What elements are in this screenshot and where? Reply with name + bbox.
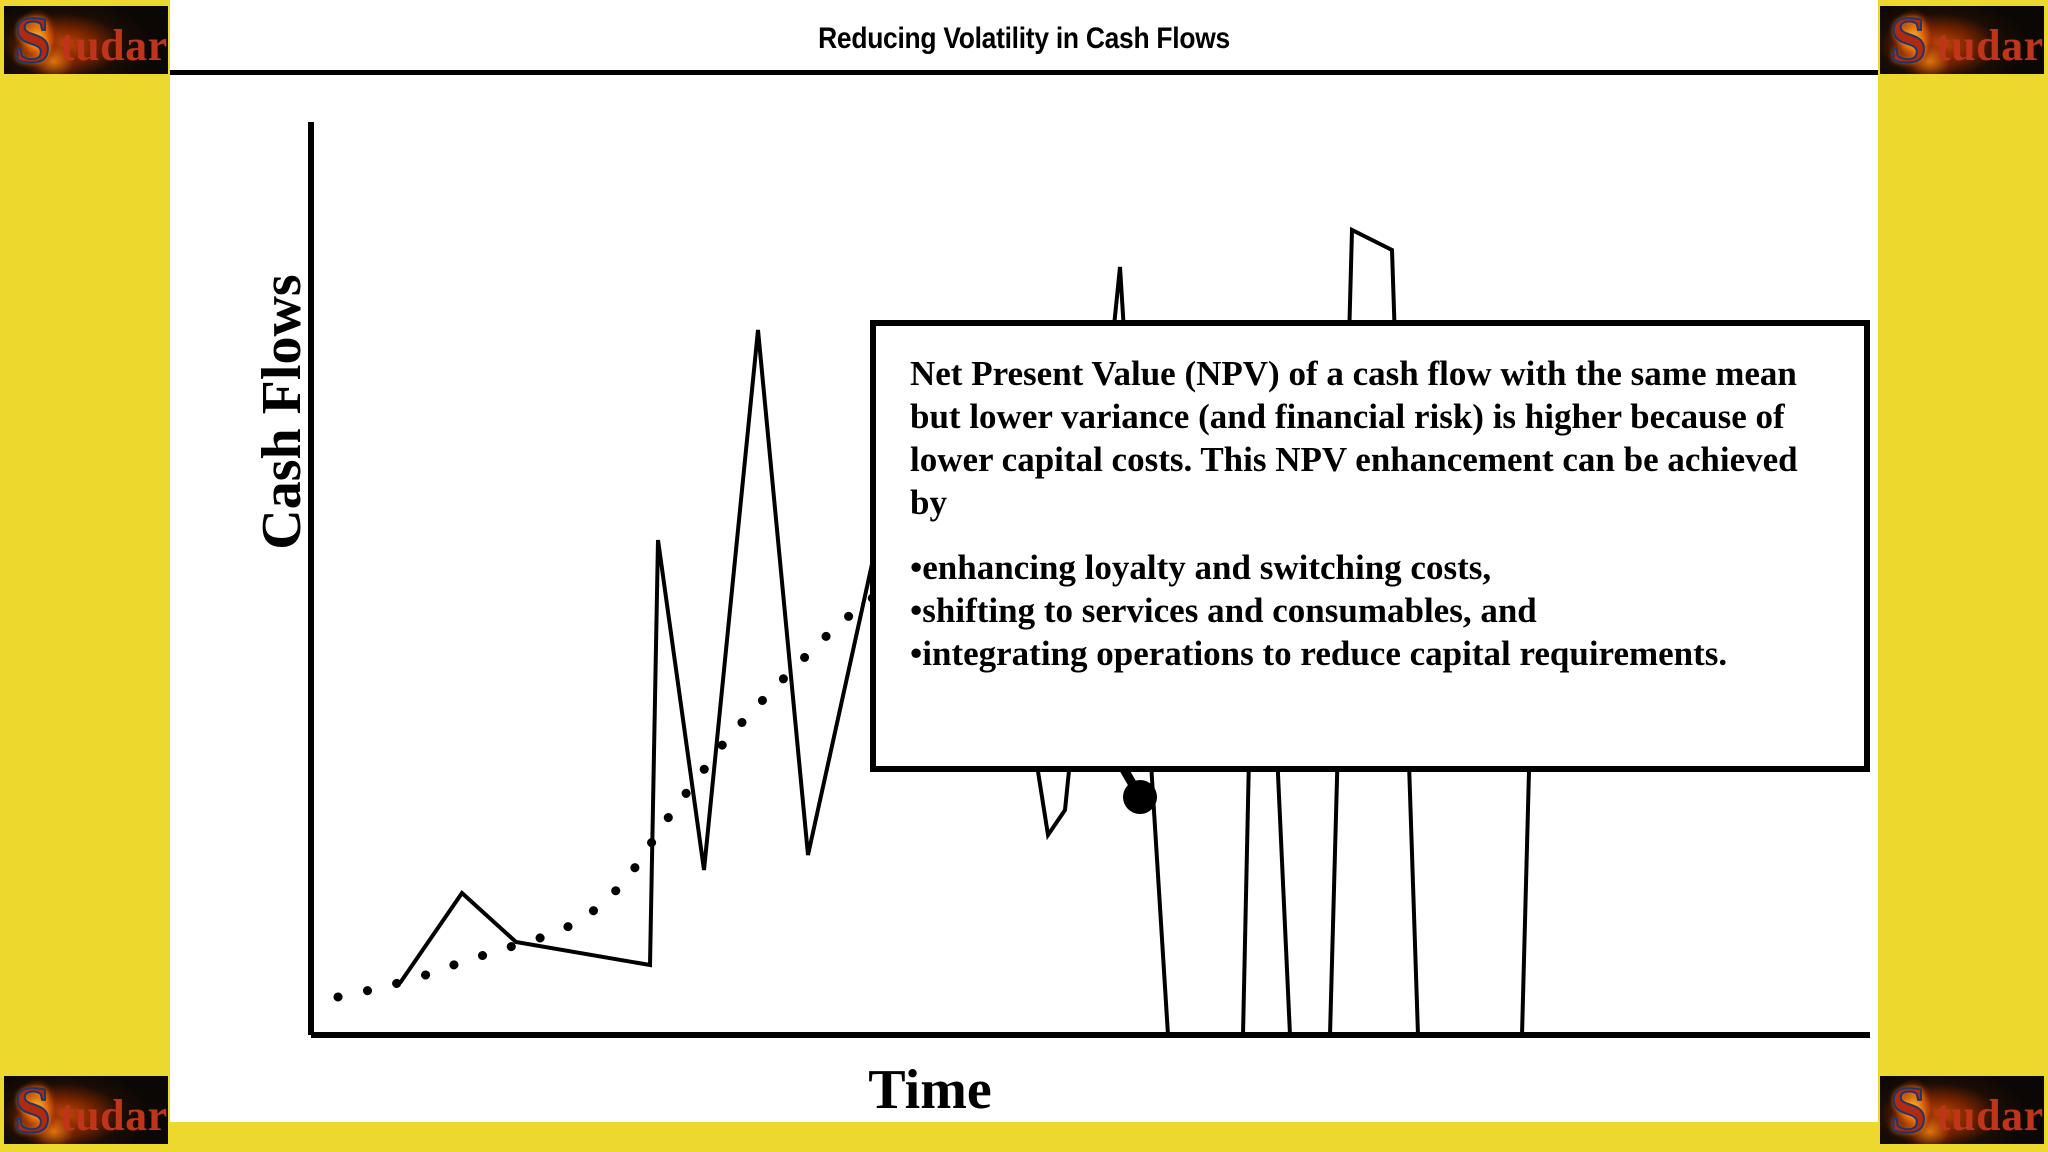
callout-bullet-item: •enhancing loyalty and switching costs, (910, 546, 1840, 589)
callout-bullet-item: •shifting to services and consumables, a… (910, 589, 1840, 632)
watermark-top-right: S tudary (1880, 6, 2044, 74)
watermark-initial: S (14, 8, 51, 74)
watermark-bottom-left: S tudary (4, 1076, 168, 1144)
slide-content-area: Reducing Volatility in Cash Flows Cash F… (170, 0, 1878, 1122)
watermark-label: tudary (1936, 1094, 2044, 1138)
watermark-initial: S (1890, 8, 1927, 74)
watermark-label: tudary (1936, 24, 2044, 68)
watermark-initial: S (1890, 1078, 1927, 1144)
arrow-tail-dot (1123, 780, 1157, 814)
watermark-top-left: S tudary (4, 6, 168, 74)
callout-paragraph: Net Present Value (NPV) of a cash flow w… (910, 352, 1840, 524)
npv-callout-box: Net Present Value (NPV) of a cash flow w… (870, 320, 1870, 772)
watermark-label: tudary (60, 1094, 168, 1138)
watermark-initial: S (14, 1078, 51, 1144)
watermark-bottom-right: S tudary (1880, 1076, 2044, 1144)
bottom-border-band (0, 1122, 2048, 1152)
callout-bullet-list: •enhancing loyalty and switching costs,•… (910, 546, 1840, 675)
watermark-label: tudary (60, 24, 168, 68)
callout-bullet-item: •integrating operations to reduce capita… (910, 632, 1840, 675)
slide-canvas: Reducing Volatility in Cash Flows Cash F… (0, 0, 2048, 1152)
